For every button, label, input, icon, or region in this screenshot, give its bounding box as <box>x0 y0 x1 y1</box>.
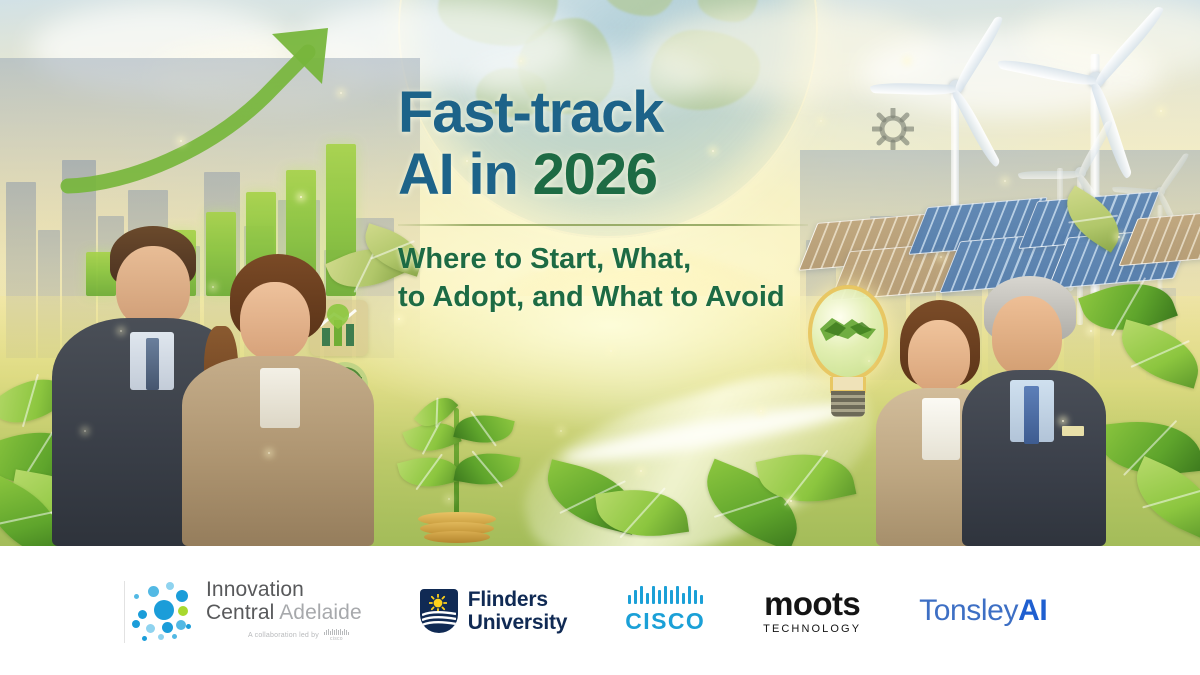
cisco-bar <box>682 593 685 604</box>
sparkle <box>268 452 270 454</box>
ica-line1: Innovation <box>206 579 362 601</box>
page-title-line2-blue: AI in <box>398 142 533 207</box>
gear-icon <box>872 108 914 150</box>
cisco-bar <box>664 586 667 604</box>
cisco-bar <box>628 595 631 604</box>
cisco-bar <box>676 586 679 604</box>
tonsley-ai-word: AI <box>1018 596 1047 626</box>
cisco-mini-bar <box>328 629 329 635</box>
subtitle-line1: Where to Start, What, <box>398 240 808 278</box>
sparkle <box>1062 420 1064 422</box>
flinders-line2: University <box>468 611 568 634</box>
sparkle <box>610 350 612 352</box>
sun-icon <box>429 594 447 612</box>
logo-dot <box>148 586 159 597</box>
event-promo-banner: Fast-track AI in 2026 Where to Start, Wh… <box>0 0 1200 675</box>
hero-illustration: Fast-track AI in 2026 Where to Start, Wh… <box>0 0 1200 546</box>
ica-line2: Central Adelaide <box>206 602 362 624</box>
logo-dot <box>142 636 147 641</box>
cisco-bar <box>694 590 697 604</box>
cisco-bar <box>700 595 703 604</box>
cisco-mini-bar <box>326 630 327 635</box>
logo-dot <box>162 622 173 633</box>
page-title-line2: AI in 2026 <box>398 144 808 206</box>
logo-dot <box>166 582 174 590</box>
sparkle <box>790 500 792 502</box>
ica-line2-light: Adelaide <box>279 601 362 624</box>
growth-arrow-icon <box>60 18 380 208</box>
partner-logo-bar: Innovation Central Adelaide A collaborat… <box>0 546 1200 675</box>
sparkle <box>906 60 908 62</box>
cisco-mini-bar <box>342 631 343 635</box>
cisco-mini-bar <box>340 629 341 635</box>
cisco-bar <box>652 586 655 604</box>
cisco-bar <box>670 590 673 604</box>
title-block: Fast-track AI in 2026 Where to Start, Wh… <box>398 82 808 316</box>
cisco-mini-bar <box>348 632 349 635</box>
ica-line2-dark: Central <box>206 601 279 624</box>
logo-tonsley-ai[interactable]: TonsleyAI <box>919 596 1047 626</box>
logo-innovation-central-adelaide[interactable]: Innovation Central Adelaide A collaborat… <box>124 579 362 642</box>
sparkle <box>300 196 302 198</box>
sparkle <box>448 498 450 500</box>
logo-dot <box>154 600 174 620</box>
logo-cisco[interactable]: CISCO <box>625 586 705 635</box>
ica-tagline: A collaboration led by cisco <box>206 629 362 642</box>
cisco-wordmark: CISCO <box>625 608 705 635</box>
sparkle <box>212 286 214 288</box>
cisco-mini-bar <box>334 630 335 635</box>
logo-dot <box>186 624 191 629</box>
logo-row: Innovation Central Adelaide A collaborat… <box>0 579 1047 642</box>
sparkle <box>1160 110 1162 112</box>
page-title-line1: Fast-track <box>398 82 808 144</box>
tonsley-word: Tonsley <box>919 596 1018 626</box>
title-divider <box>398 224 808 226</box>
cisco-bar <box>688 586 691 604</box>
ica-tagline-text: A collaboration led by <box>248 632 319 639</box>
cisco-bars-icon <box>628 586 703 604</box>
logo-dot <box>138 610 147 619</box>
cisco-bar <box>640 586 643 604</box>
logo-dot <box>134 594 139 599</box>
cisco-mini-bar <box>346 630 347 635</box>
sparkle <box>520 60 522 62</box>
logo-flinders-university[interactable]: Flinders University <box>420 588 568 634</box>
subtitle-line2: to Adopt, and What to Avoid <box>398 278 808 316</box>
flinders-line1: Flinders <box>468 588 568 611</box>
sparkle <box>560 430 562 432</box>
logo-dot <box>146 624 155 633</box>
cisco-mini-bar <box>330 631 331 635</box>
logo-dot <box>132 620 140 628</box>
logo-dot <box>176 590 188 602</box>
innovation-dots-icon <box>132 580 194 642</box>
cisco-bar <box>658 590 661 604</box>
cisco-mini-logo-icon: cisco <box>324 629 349 642</box>
sparkle <box>1090 330 1092 332</box>
logo-dot <box>158 634 164 640</box>
cisco-mini-bar <box>336 629 337 635</box>
moots-wordmark: moots <box>764 587 860 620</box>
sparkle <box>340 92 342 94</box>
logo-dot <box>176 620 186 630</box>
sparkle <box>1004 180 1006 182</box>
sparkle <box>868 360 870 362</box>
business-person-left-2 <box>178 252 374 546</box>
logo-dot <box>178 606 188 616</box>
cisco-mini-bar <box>324 632 325 635</box>
sparkle <box>1118 236 1120 238</box>
sparkle <box>180 140 182 142</box>
sparkle <box>940 256 942 258</box>
cisco-bar <box>646 593 649 604</box>
sparkle <box>640 470 642 472</box>
sapling-in-coins <box>398 400 528 546</box>
cisco-mini-bar <box>332 629 333 635</box>
cisco-bar <box>634 590 637 604</box>
flinders-shield-icon <box>420 589 458 633</box>
sparkle <box>398 318 400 320</box>
cisco-mini-bar <box>344 629 345 635</box>
cisco-mini-bar <box>338 630 339 635</box>
sparkle <box>820 120 822 122</box>
moots-subtitle: TECHNOLOGY <box>763 623 861 635</box>
waves-icon <box>422 611 456 628</box>
logo-dot <box>172 634 177 639</box>
sparkle <box>760 410 762 412</box>
sparkle <box>120 330 122 332</box>
sparkle <box>84 430 86 432</box>
business-person-right-2 <box>962 276 1106 546</box>
logo-moots-technology[interactable]: moots TECHNOLOGY <box>763 587 861 635</box>
page-title-line2-green: 2026 <box>533 142 657 207</box>
cisco-mini-wordmark: cisco <box>330 636 343 642</box>
